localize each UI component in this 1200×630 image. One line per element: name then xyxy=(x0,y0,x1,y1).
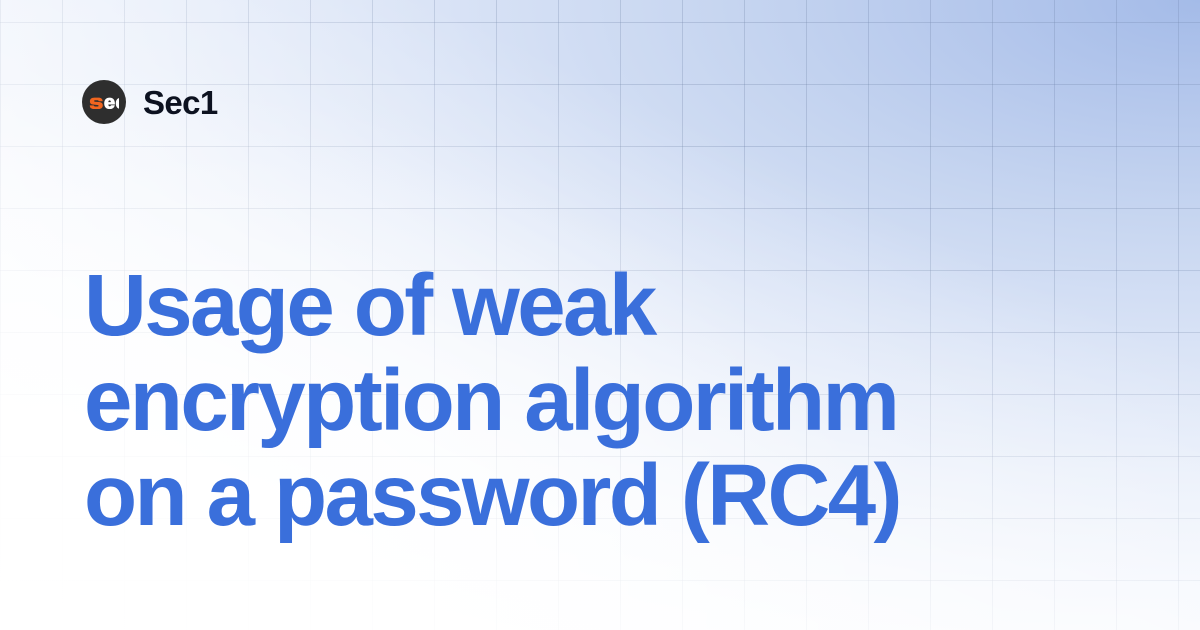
og-card: Sec1 Usage of weak encryption algorithm … xyxy=(0,0,1200,630)
sec1-logo-icon xyxy=(82,80,126,124)
page-title-line-2: encryption algorithm xyxy=(84,353,1094,448)
page-title: Usage of weak encryption algorithm on a … xyxy=(84,258,1094,543)
brand-lockup: Sec1 xyxy=(82,80,218,124)
card-content: Sec1 Usage of weak encryption algorithm … xyxy=(0,0,1200,630)
brand-name: Sec1 xyxy=(143,86,218,119)
page-title-line-3: on a password (RC4) xyxy=(84,448,1094,543)
page-title-line-1: Usage of weak xyxy=(84,258,1094,353)
